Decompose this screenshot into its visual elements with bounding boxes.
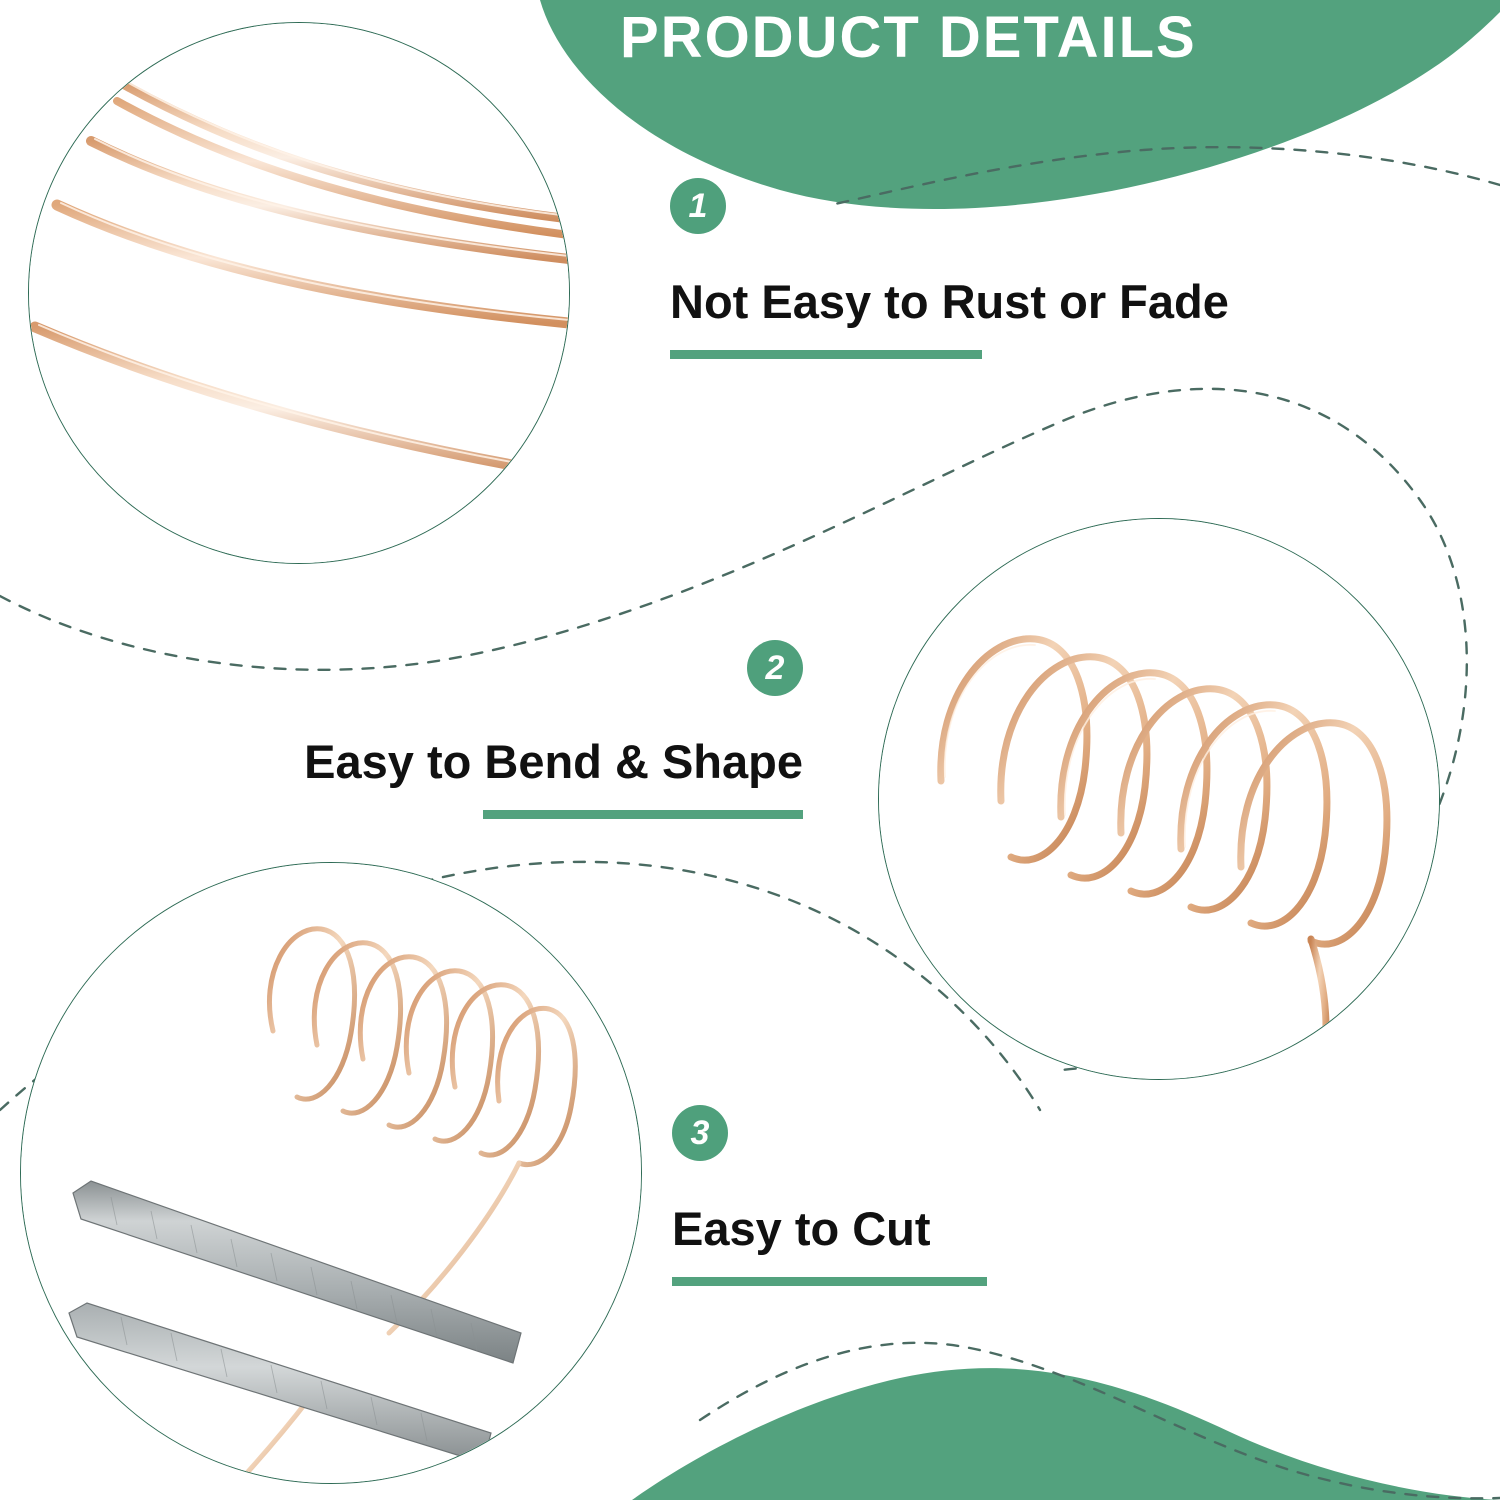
feature-heading-1: Not Easy to Rust or Fade: [670, 276, 1229, 328]
photo-cutting-wire: [20, 862, 642, 1484]
footer-green-shape: [632, 1368, 1500, 1500]
feature-number-badge-3: 3: [672, 1105, 728, 1161]
feature-underline-3: [672, 1277, 987, 1286]
feature-number-badge-1: 1: [670, 178, 726, 234]
photo-copper-coil: [878, 518, 1440, 1080]
coil-illustration: [879, 519, 1439, 1079]
feature-underline-2: [483, 810, 803, 819]
dashed-curve-footer: [700, 1343, 1500, 1499]
photo-copper-wire-strands: [28, 22, 570, 564]
feature-underline-1: [670, 350, 982, 359]
feature-block-3: 3 Easy to Cut: [672, 1105, 987, 1286]
feature-heading-2: Easy to Bend & Shape: [258, 736, 803, 788]
page-title: PRODUCT DETAILS: [620, 6, 1320, 70]
wire-strands-illustration: [29, 23, 569, 563]
feature-heading-3: Easy to Cut: [672, 1203, 987, 1255]
feature-block-2: 2 Easy to Bend & Shape: [258, 640, 803, 819]
product-details-infographic: PRODUCT DETAILS: [0, 0, 1500, 1500]
feature-number-badge-2: 2: [747, 640, 803, 696]
feature-block-1: 1 Not Easy to Rust or Fade: [670, 178, 1229, 359]
cutting-illustration: [21, 863, 641, 1483]
